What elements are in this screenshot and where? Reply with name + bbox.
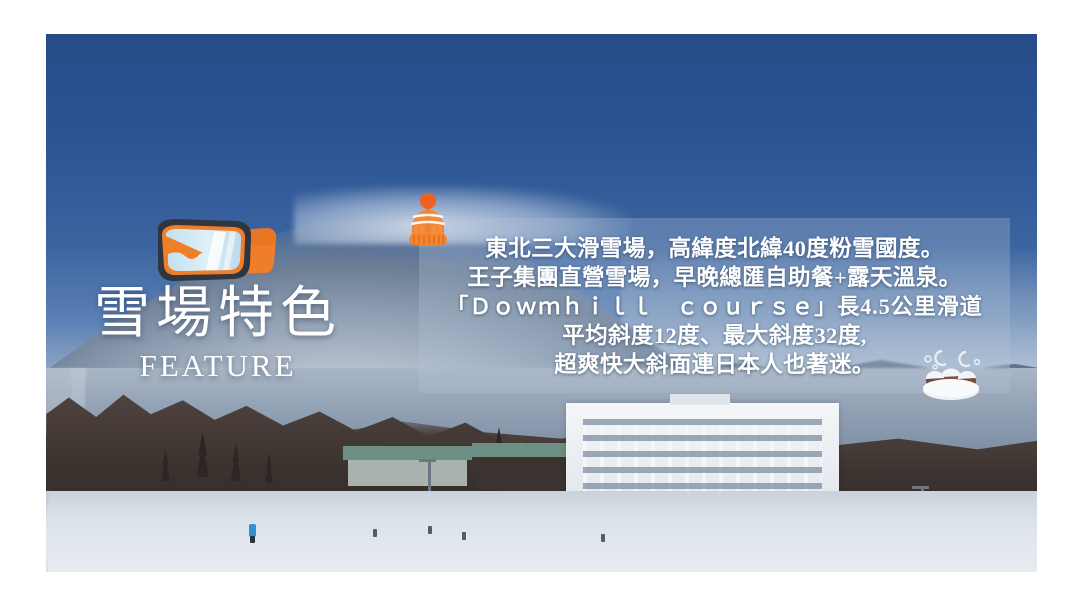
lift-pylon-arm [912,486,929,489]
piste-ski-tracks [46,491,1037,572]
lodge-building [348,456,467,486]
slide-root: 東北三大滑雪場，高緯度北緯40度粉雪國度。 王子集團直營雪場，早晚總匯自助餐+露… [0,0,1080,607]
description-line: 東北三大滑雪場，高緯度北緯40度粉雪國度。 [485,234,943,263]
skier-blue-jacket [249,524,256,537]
distant-skier [373,529,377,537]
ski-goggles-icon [140,212,280,294]
description-line: 「Ｄｏｗｍｈｉｌｌ ｃｏｕｒｓｅ」長4.5公里滑道 [446,292,983,321]
winter-beanie-hat-icon [400,192,456,250]
description-line: 超爽快大斜面連日本人也著迷。 [554,350,875,379]
distant-skier [428,526,432,534]
description-line: 平均斜度12度、最大斜度32度, [562,321,867,350]
distant-skier [601,534,605,542]
lift-pylon-arm [419,459,436,462]
hotel-rooftop-block [670,394,730,405]
distant-skier [462,532,466,540]
lodge-green-roof [343,446,472,460]
hotel-window-grid [583,419,823,495]
description-line: 王子集團直營雪場，早晚總匯自助餐+露天溫泉。 [467,263,961,292]
hot-spring-onsen-icon [915,343,987,405]
